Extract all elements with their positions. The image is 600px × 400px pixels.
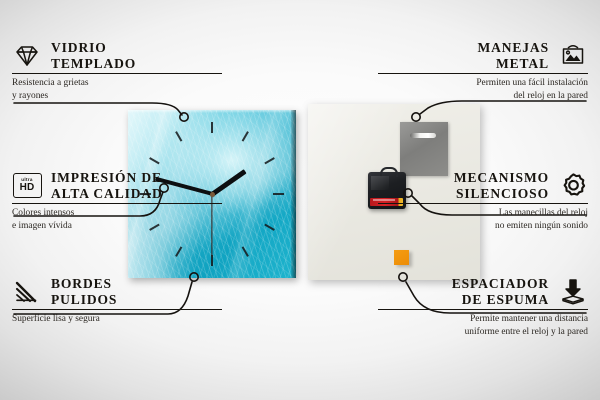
foam-spacer-arrow-icon — [558, 277, 588, 307]
callout-header: ultra HD IMPRESIÓN DE ALTA CALIDAD — [12, 170, 222, 201]
clock-tick — [211, 122, 213, 133]
ultra-hd-badge-icon: ultra HD — [12, 171, 42, 201]
callout-rule — [12, 309, 222, 310]
foam-spacer-pad — [394, 250, 409, 265]
callout-vidrio-templado: VIDRIO TEMPLADO Resistencia a grietas y … — [12, 40, 222, 103]
metal-hanger-plate — [400, 122, 448, 176]
ultra-hd-large-text: HD — [20, 183, 35, 193]
callout-description: Permiten una fácil instalación del reloj… — [378, 77, 588, 102]
callout-title: IMPRESIÓN DE ALTA CALIDAD — [51, 170, 163, 201]
glass-right-edge — [291, 110, 296, 278]
callout-mecanismo-silencioso: MECANISMO SILENCIOSO Las manecillas del … — [378, 170, 588, 233]
clock-tick — [273, 193, 284, 195]
callout-title: MECANISMO SILENCIOSO — [454, 170, 549, 201]
callout-title: BORDES PULIDOS — [51, 276, 117, 307]
clock-tick — [211, 255, 213, 266]
polished-edges-icon — [12, 277, 42, 307]
callout-header: VIDRIO TEMPLADO — [12, 40, 222, 71]
callout-description: Permite mantener una distancia uniforme … — [378, 313, 588, 338]
callout-description: Resistencia a grietas y rayones — [12, 77, 222, 102]
gear-icon — [558, 171, 588, 201]
callout-header: BORDES PULIDOS — [12, 276, 222, 307]
callout-manejas-metal: MANEJAS METAL Permiten una fácil instala… — [378, 40, 588, 103]
hanger-slot — [410, 133, 436, 138]
callout-espaciador-espuma: ESPACIADOR DE ESPUMA Permite mantener un… — [378, 276, 588, 339]
callout-description: Las manecillas del reloj no emiten ningú… — [378, 207, 588, 232]
callout-title: ESPACIADOR DE ESPUMA — [452, 276, 549, 307]
callout-header: ESPACIADOR DE ESPUMA — [378, 276, 588, 307]
picture-frame-icon — [558, 41, 588, 71]
callout-rule — [12, 203, 222, 204]
glass-top-edge — [128, 110, 296, 113]
callout-header: MANEJAS METAL — [378, 40, 588, 71]
callout-header: MECANISMO SILENCIOSO — [378, 170, 588, 201]
callout-impresion-alta-calidad: ultra HD IMPRESIÓN DE ALTA CALIDAD Color… — [12, 170, 222, 233]
callout-description: Colores intensos e imagen vívida — [12, 207, 222, 232]
callout-rule — [378, 203, 588, 204]
product-infographic: VIDRIO TEMPLADO Resistencia a grietas y … — [0, 0, 600, 400]
callout-bordes-pulidos: BORDES PULIDOS Superficie lisa y segura — [12, 276, 222, 326]
callout-rule — [12, 73, 222, 74]
callout-rule — [378, 73, 588, 74]
callout-title: VIDRIO TEMPLADO — [51, 40, 136, 71]
diamond-icon — [12, 41, 42, 71]
callout-title: MANEJAS METAL — [477, 40, 549, 71]
callout-rule — [378, 309, 588, 310]
callout-description: Superficie lisa y segura — [12, 313, 222, 326]
